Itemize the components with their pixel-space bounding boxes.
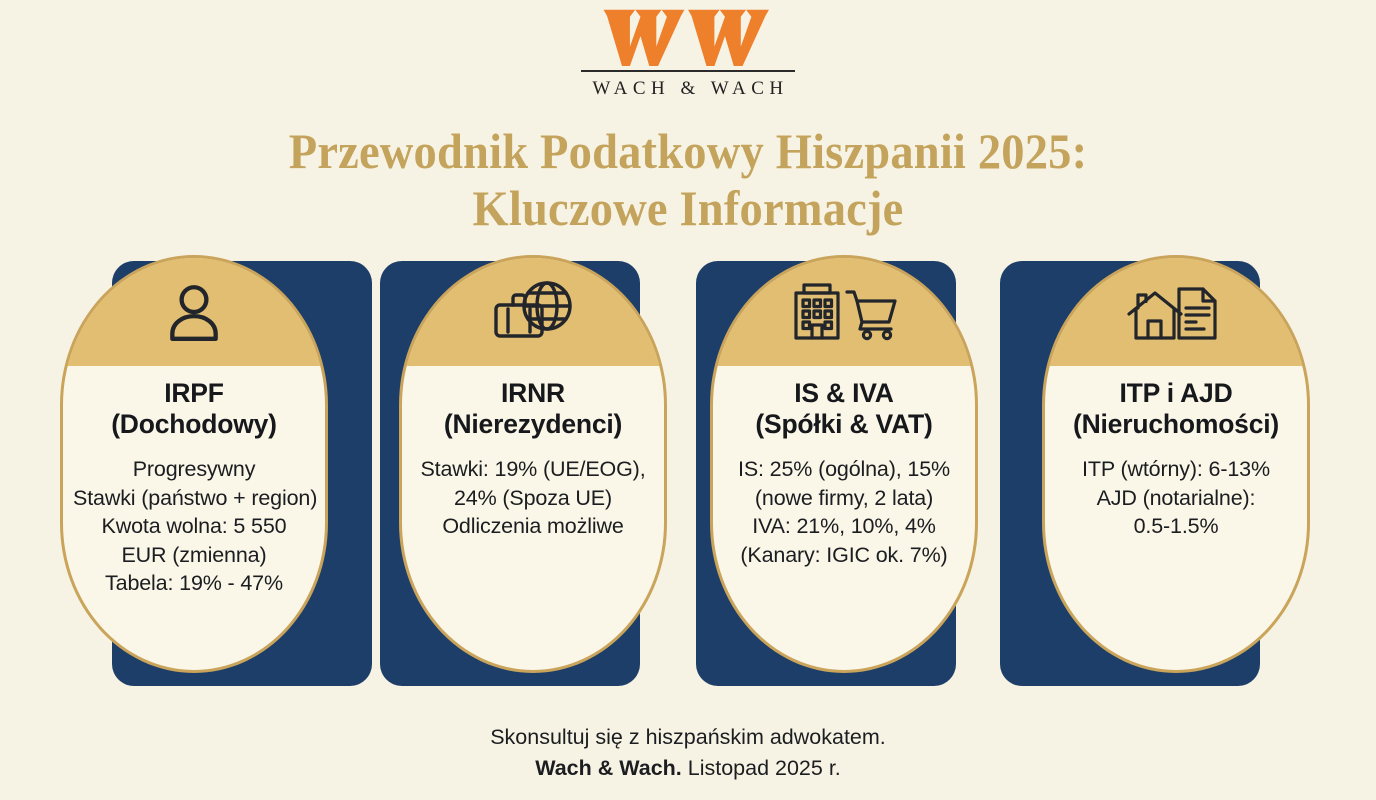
card-detail-line: EUR (zmienna) xyxy=(73,541,315,569)
card-details: IS: 25% (ogólna), 15% (nowe firmy, 2 lat… xyxy=(723,455,965,569)
card-title-line-1: IS & IVA xyxy=(794,378,894,408)
page-title: Przewodnik Podatkowy Hiszpanii 2025: Klu… xyxy=(48,123,1328,236)
card-panel: ITP i AJD (Nieruchomości) ITP (wtórny): … xyxy=(1042,255,1310,673)
card-title: ITP i AJD (Nieruchomości) xyxy=(1055,378,1297,439)
card-title-line-1: ITP i AJD xyxy=(1119,378,1232,408)
card-content: ITP i AJD (Nieruchomości) ITP (wtórny): … xyxy=(1045,366,1307,670)
card-detail-line: AJD (notarialne): xyxy=(1055,484,1297,512)
card-icon-header xyxy=(402,258,664,366)
brand-wordmark: WACH & WACH xyxy=(587,78,788,100)
card-detail-line: Progresywny xyxy=(73,455,315,483)
card-detail-line: Stawki (państwo + region) xyxy=(73,484,315,512)
card-title-line-2: (Dochodowy) xyxy=(73,409,315,440)
card-title: IRPF (Dochodowy) xyxy=(73,378,315,439)
card-title: IS & IVA (Spółki & VAT) xyxy=(723,378,965,439)
card-icon-header xyxy=(63,258,325,366)
card-detail-line: 0.5-1.5% xyxy=(1055,512,1297,540)
card-irnr[interactable]: IRNR (Nierezydenci) Stawki: 19% (UE/EOG)… xyxy=(375,255,695,695)
card-content: IS & IVA (Spółki & VAT) IS: 25% (ogólna)… xyxy=(713,366,975,670)
footer-brand: Wach & Wach. xyxy=(535,756,682,780)
card-title-line-2: (Spółki & VAT) xyxy=(723,409,965,440)
logo-divider xyxy=(581,70,795,72)
page-title-line-2: Kluczowe Informacje xyxy=(48,180,1328,237)
card-title-line-1: IRNR xyxy=(501,378,565,408)
card-icon-header xyxy=(713,258,975,366)
card-detail-line: IVA: 21%, 10%, 4% xyxy=(723,512,965,540)
card-panel: IRNR (Nierezydenci) Stawki: 19% (UE/EOG)… xyxy=(399,255,667,673)
card-panel: IRPF (Dochodowy) Progresywny Stawki (pań… xyxy=(60,255,328,673)
house-document-icon xyxy=(1124,279,1228,345)
card-is-iva[interactable]: IS & IVA (Spółki & VAT) IS: 25% (ogólna)… xyxy=(688,255,1008,695)
footer-date: Listopad 2025 r. xyxy=(682,756,841,780)
card-content: IRPF (Dochodowy) Progresywny Stawki (pań… xyxy=(63,366,325,670)
card-details: Progresywny Stawki (państwo + region) Kw… xyxy=(73,455,315,597)
page-title-line-1: Przewodnik Podatkowy Hiszpanii 2025: xyxy=(48,123,1328,180)
card-panel: IS & IVA (Spółki & VAT) IS: 25% (ogólna)… xyxy=(710,255,978,673)
card-detail-line: (Kanary: IGIC ok. 7%) xyxy=(723,541,965,569)
card-irpf[interactable]: IRPF (Dochodowy) Progresywny Stawki (pań… xyxy=(60,255,380,695)
card-title-line-2: (Nieruchomości) xyxy=(1055,409,1297,440)
card-details: ITP (wtórny): 6-13% AJD (notarialne): 0.… xyxy=(1055,455,1297,540)
suitcase-globe-icon xyxy=(490,279,576,345)
card-icon-header xyxy=(1045,258,1307,366)
footer-line-1: Skonsultuj się z hiszpańskim adwokatem. xyxy=(0,722,1376,753)
card-detail-line: (nowe firmy, 2 lata) xyxy=(723,484,965,512)
card-title: IRNR (Nierezydenci) xyxy=(412,378,654,439)
card-content: IRNR (Nierezydenci) Stawki: 19% (UE/EOG)… xyxy=(402,366,664,670)
card-title-line-1: IRPF xyxy=(164,378,224,408)
card-detail-line: ITP (wtórny): 6-13% xyxy=(1055,455,1297,483)
card-detail-line: Kwota wolna: 5 550 xyxy=(73,512,315,540)
card-title-line-2: (Nierezydenci) xyxy=(412,409,654,440)
card-details: Stawki: 19% (UE/EOG), 24% (Spoza UE) Odl… xyxy=(412,455,654,540)
card-row: IRPF (Dochodowy) Progresywny Stawki (pań… xyxy=(0,255,1376,695)
card-detail-line: IS: 25% (ogólna), 15% xyxy=(723,455,965,483)
card-detail-line: 24% (Spoza UE) xyxy=(412,484,654,512)
footer-note: Skonsultuj się z hiszpańskim adwokatem. … xyxy=(0,722,1376,783)
building-cart-icon xyxy=(789,280,899,344)
card-detail-line: Odliczenia możliwe xyxy=(412,512,654,540)
ww-monogram-icon xyxy=(600,6,776,68)
card-detail-line: Tabela: 19% - 47% xyxy=(73,569,315,597)
card-itp-ajd[interactable]: ITP i AJD (Nieruchomości) ITP (wtórny): … xyxy=(1000,255,1320,695)
brand-logo: WACH & WACH xyxy=(0,6,1376,106)
person-icon xyxy=(161,279,227,345)
footer-line-2: Wach & Wach. Listopad 2025 r. xyxy=(0,753,1376,784)
card-detail-line: Stawki: 19% (UE/EOG), xyxy=(412,455,654,483)
